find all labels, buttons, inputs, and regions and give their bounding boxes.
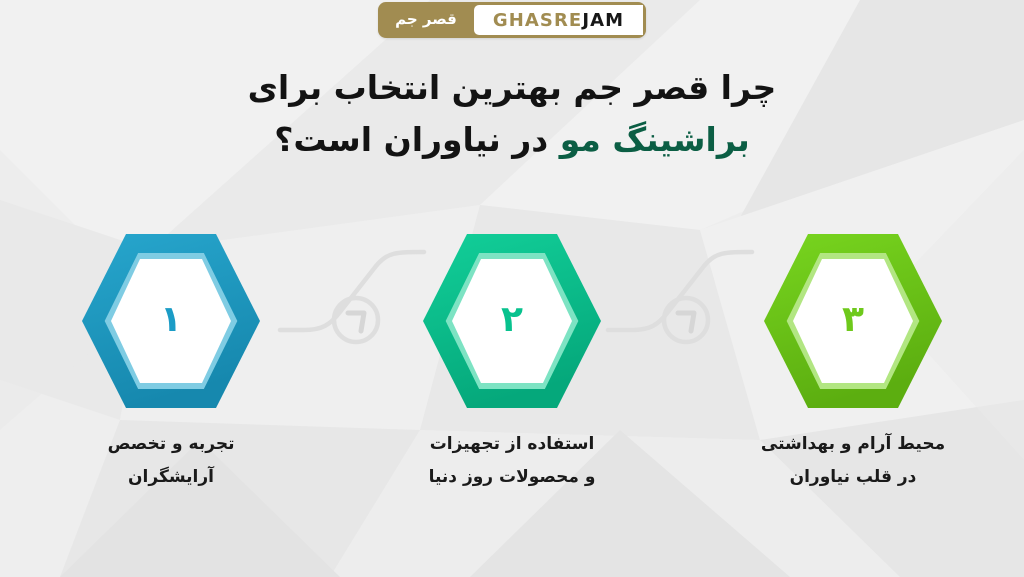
step-caption-3-line-1: محیط آرام و بهداشتی <box>761 428 945 461</box>
step-number-2: ۲ <box>501 302 523 340</box>
step-caption-3-line-2: در قلب نیاوران <box>761 461 945 494</box>
headline-line-1: چرا قصر جم بهترین انتخاب برای <box>0 62 1024 114</box>
step-number-3: ۳ <box>842 302 864 340</box>
headline-line-2-rest: در نیاوران است؟ <box>274 120 559 159</box>
logo-jam-text: JAM <box>582 10 624 31</box>
step-caption-1-line-1: تجربه و تخصص <box>108 428 235 461</box>
step-item-1[interactable]: ۱ تجربه و تخصص آرایشگران <box>1 230 342 530</box>
steps-row: ۱ تجربه و تخصص آرایشگران <box>0 230 1024 530</box>
logo-ghasre-text: GHASRE <box>493 10 583 31</box>
step-caption-3: محیط آرام و بهداشتی در قلب نیاوران <box>761 428 945 494</box>
logo-persian-text: قصر جم <box>378 2 474 38</box>
hexagon-badge-2[interactable]: ۲ <box>419 230 605 412</box>
brand-logo[interactable]: قصر جم GHASREJAM <box>378 2 646 38</box>
headline-highlight: براشینگ مو <box>560 120 750 159</box>
step-number-1: ۱ <box>160 302 182 340</box>
logo-latin-text: GHASREJAM <box>474 5 643 35</box>
step-item-2[interactable]: ۲ استفاده از تجهیزات و محصولات روز دنیا <box>342 230 683 530</box>
step-caption-1-line-2: آرایشگران <box>108 461 235 494</box>
step-caption-2-line-1: استفاده از تجهیزات <box>429 428 596 461</box>
step-caption-2: استفاده از تجهیزات و محصولات روز دنیا <box>429 428 596 494</box>
step-caption-2-line-2: و محصولات روز دنیا <box>429 461 596 494</box>
page-title: چرا قصر جم بهترین انتخاب برای براشینگ مو… <box>0 62 1024 166</box>
step-caption-1: تجربه و تخصص آرایشگران <box>108 428 235 494</box>
headline-line-2: براشینگ مو در نیاوران است؟ <box>0 114 1024 166</box>
hexagon-badge-1[interactable]: ۱ <box>78 230 264 412</box>
infographic-canvas: قصر جم GHASREJAM چرا قصر جم بهترین انتخا… <box>0 0 1024 577</box>
step-item-3[interactable]: ۳ محیط آرام و بهداشتی در قلب نیاوران <box>683 230 1024 530</box>
hexagon-badge-3[interactable]: ۳ <box>760 230 946 412</box>
